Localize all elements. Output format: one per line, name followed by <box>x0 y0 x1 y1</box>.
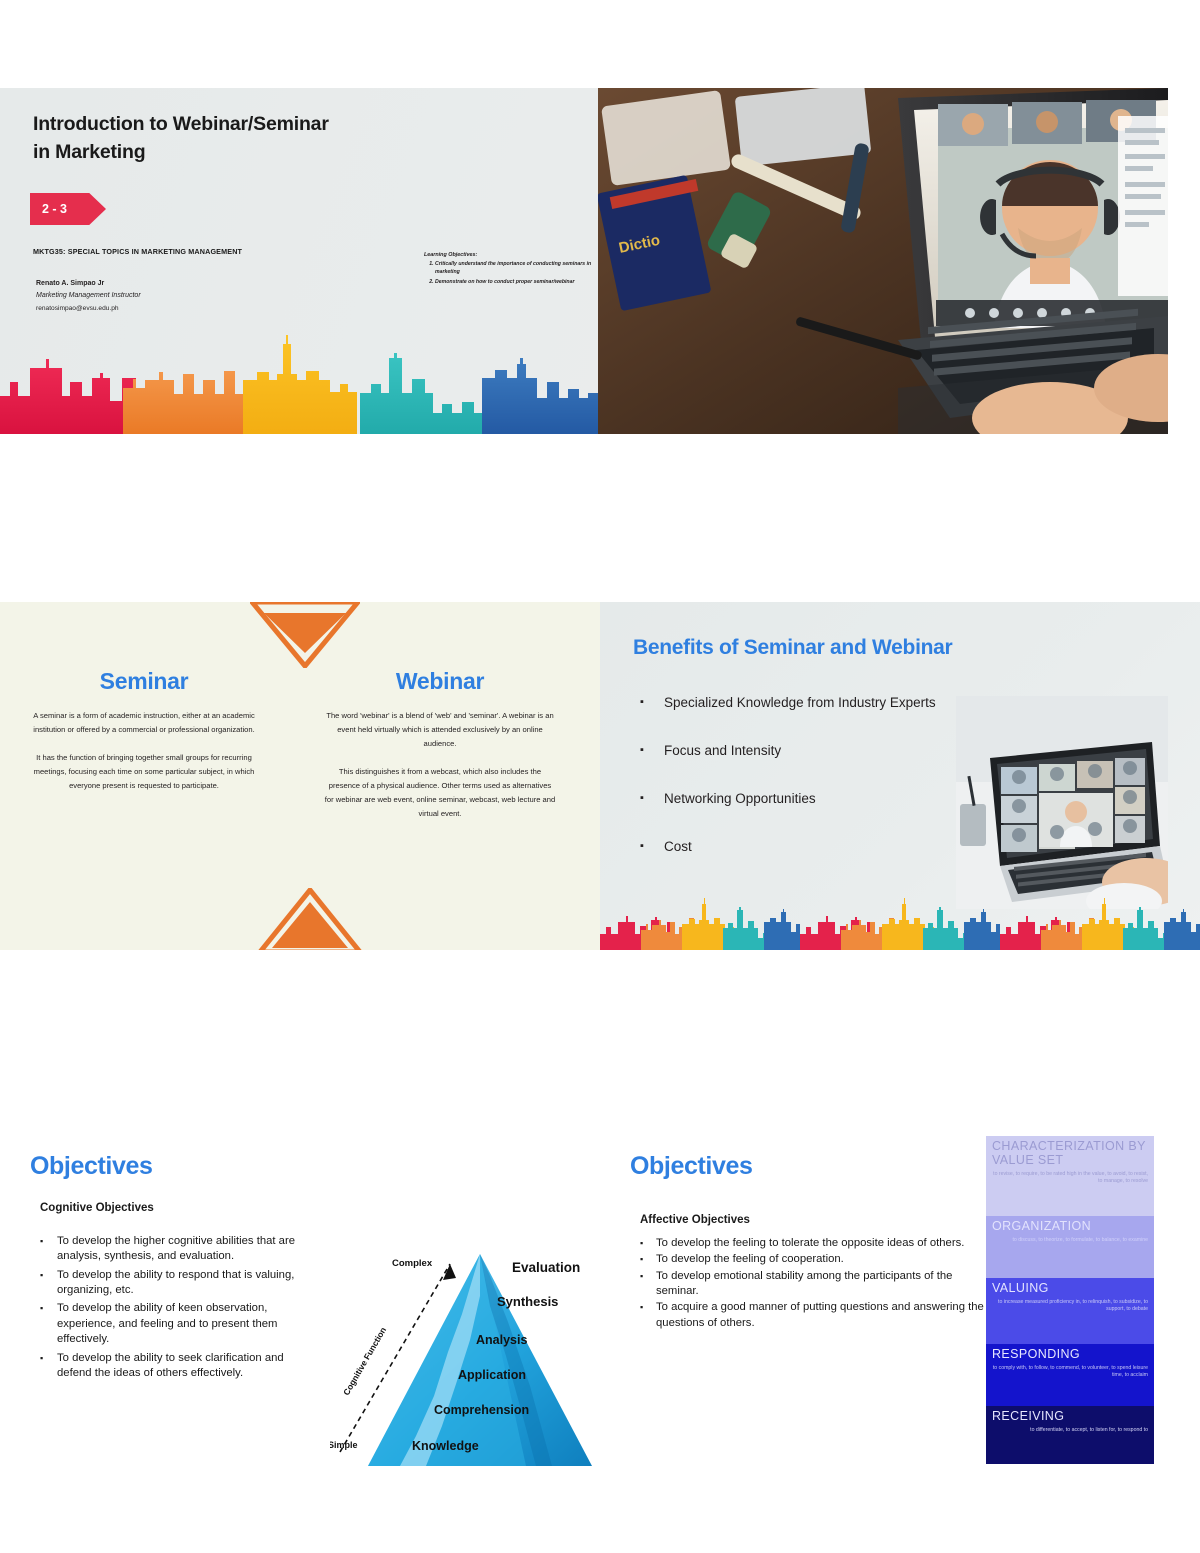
objective-item: ▪ To develop the ability of keen observa… <box>40 1301 320 1347</box>
objective-label: To develop the feeling of cooperation. <box>656 1252 844 1267</box>
benefit-label: Networking Opportunities <box>664 790 816 809</box>
pyramid-axis-top: Complex <box>392 1258 433 1269</box>
affective-objectives-subtitle: Affective Objectives <box>640 1214 750 1226</box>
affective-band-verbs: to discuss, to theorize, to formulate, t… <box>992 1237 1148 1244</box>
slide-benefits: Benefits of Seminar and Webinar ▪ Specia… <box>600 602 1200 950</box>
slide-objectives-cognitive: Objectives Cognitive Objectives ▪ To dev… <box>0 1108 600 1490</box>
objective-label: To acquire a good manner of putting ques… <box>656 1300 985 1331</box>
benefit-label: Specialized Knowledge from Industry Expe… <box>664 694 936 713</box>
webinar-heading: Webinar <box>320 668 560 695</box>
author-email: renatosimpao@evsu.edu.ph <box>36 303 296 315</box>
benefit-label: Focus and Intensity <box>664 742 781 761</box>
city-skyline-graphic <box>0 316 600 434</box>
objectives-title: Objectives <box>630 1152 752 1181</box>
seminar-paragraph: It has the function of bringing together… <box>24 751 264 793</box>
affective-band-title: RESPONDING <box>992 1348 1148 1362</box>
objective-label: To develop the ability of keen observati… <box>57 1301 320 1347</box>
bullet-icon: ▪ <box>640 838 664 857</box>
affective-band-title: CHARACTERIZATION BY VALUE SET <box>992 1140 1148 1168</box>
seminar-column: Seminar A seminar is a form of academic … <box>24 668 264 807</box>
affective-band-title: RECEIVING <box>992 1410 1148 1424</box>
pyramid-level-label: Evaluation <box>512 1260 580 1275</box>
pyramid-axis-label: Cognitive Function <box>341 1325 388 1397</box>
affective-domain-taxonomy: CHARACTERIZATION BY VALUE SET to revise,… <box>986 1136 1154 1464</box>
benefits-list: ▪ Specialized Knowledge from Industry Ex… <box>640 694 940 886</box>
slide1-left-panel: Introduction to Webinar/Seminar in Marke… <box>0 88 600 434</box>
learning-objectives-list: Critically understand the importance of … <box>424 261 592 286</box>
lesson-number-badge: 2 - 3 <box>30 193 106 225</box>
bullet-icon: ▪ <box>40 1301 57 1347</box>
slide1-title-line1: Introduction to Webinar/Seminar <box>33 110 463 138</box>
affective-objectives-list: ▪ To develop the feeling to tolerate the… <box>640 1236 985 1332</box>
affective-band: VALUING to increase measured proficiency… <box>986 1278 1154 1344</box>
affective-band-verbs: to comply with, to follow, to commend, t… <box>992 1365 1148 1379</box>
author-role: Marketing Management Instructor <box>36 290 296 302</box>
learning-objective-item: Demonstrate on how to conduct proper sem… <box>435 279 592 287</box>
affective-band: CHARACTERIZATION BY VALUE SET to revise,… <box>986 1136 1154 1216</box>
bullet-icon: ▪ <box>640 1269 656 1300</box>
learning-objectives-heading: Learning Objectives: <box>424 251 592 259</box>
seminar-heading: Seminar <box>24 668 264 695</box>
slide1-title: Introduction to Webinar/Seminar in Marke… <box>33 110 463 167</box>
webinar-column: Webinar The word 'webinar' is a blend of… <box>320 668 560 835</box>
bullet-icon: ▪ <box>640 742 664 761</box>
affective-band-title: VALUING <box>992 1282 1148 1296</box>
author-block: Renato A. Simpao Jr Marketing Management… <box>36 278 296 314</box>
pyramid-level-label: Analysis <box>476 1333 527 1347</box>
affective-band-title: ORGANIZATION <box>992 1220 1148 1234</box>
slide-seminar-webinar: Seminar A seminar is a form of academic … <box>0 602 600 950</box>
benefit-label: Cost <box>664 838 692 857</box>
affective-band-verbs: to revise, to require, to be rated high … <box>992 1171 1148 1185</box>
benefit-item: ▪ Specialized Knowledge from Industry Ex… <box>640 694 940 713</box>
learning-objective-item: Critically understand the importance of … <box>435 261 592 277</box>
webinar-paragraph: This distinguishes it from a webcast, wh… <box>320 765 560 821</box>
webinar-desk-photo: Dictio <box>598 88 1168 434</box>
objective-item: ▪ To develop emotional stability among t… <box>640 1269 985 1300</box>
mini-city-skyline-graphic <box>600 892 1200 950</box>
objective-item: ▪ To develop the feeling of cooperation. <box>640 1252 985 1267</box>
objectives-title: Objectives <box>30 1152 152 1181</box>
objective-item: ▪ To develop the higher cognitive abilit… <box>40 1234 320 1265</box>
benefits-title: Benefits of Seminar and Webinar <box>633 636 1113 660</box>
author-name: Renato A. Simpao Jr <box>36 278 296 290</box>
cognitive-objectives-subtitle: Cognitive Objectives <box>40 1202 154 1214</box>
benefit-item: ▪ Networking Opportunities <box>640 790 940 809</box>
slide-deck-page: Introduction to Webinar/Seminar in Marke… <box>0 0 1200 1553</box>
affective-band-verbs: to increase measured proficiency in, to … <box>992 1299 1148 1313</box>
affective-band: RESPONDING to comply with, to follow, to… <box>986 1344 1154 1406</box>
affective-band: RECEIVING to differentiate, to accept, t… <box>986 1406 1154 1464</box>
bullet-icon: ▪ <box>640 1252 656 1267</box>
objective-item: ▪ To develop the feeling to tolerate the… <box>640 1236 985 1251</box>
objective-item: ▪ To develop the ability to seek clarifi… <box>40 1351 320 1382</box>
cognitive-objectives-list: ▪ To develop the higher cognitive abilit… <box>40 1234 320 1384</box>
bullet-icon: ▪ <box>640 790 664 809</box>
video-call-laptop-photo <box>956 696 1168 909</box>
objective-item: ▪ To develop the ability to respond that… <box>40 1268 320 1299</box>
bullet-icon: ▪ <box>640 1236 656 1251</box>
slide1-title-line2: in Marketing <box>33 138 463 166</box>
slide-objectives-affective: Objectives Affective Objectives ▪ To dev… <box>600 1108 1200 1490</box>
benefits-photo <box>956 696 1168 909</box>
bullet-icon: ▪ <box>40 1268 57 1299</box>
triangle-up-icon <box>258 888 362 950</box>
blooms-taxonomy-pyramid: Evaluation Synthesis Analysis Applicatio… <box>330 1236 600 1476</box>
benefit-item: ▪ Cost <box>640 838 940 857</box>
bullet-icon: ▪ <box>640 694 664 713</box>
seminar-paragraph: A seminar is a form of academic instruct… <box>24 709 264 737</box>
pyramid-level-label: Comprehension <box>434 1403 529 1417</box>
objective-label: To develop emotional stability among the… <box>656 1269 985 1300</box>
affective-band: ORGANIZATION to discuss, to theorize, to… <box>986 1216 1154 1278</box>
pyramid-level-label: Knowledge <box>412 1439 479 1453</box>
objective-item: ▪ To acquire a good manner of putting qu… <box>640 1300 985 1331</box>
webinar-paragraph: The word 'webinar' is a blend of 'web' a… <box>320 709 560 751</box>
bullet-icon: ▪ <box>640 1300 656 1331</box>
objective-label: To develop the ability to seek clarifica… <box>57 1351 320 1382</box>
title-slide-photo: Dictio <box>598 88 1168 434</box>
objective-label: To develop the higher cognitive abilitie… <box>57 1234 320 1265</box>
affective-band-verbs: to differentiate, to accept, to listen f… <box>992 1427 1148 1434</box>
bullet-icon: ▪ <box>40 1351 57 1382</box>
pyramid-level-label: Application <box>458 1368 526 1382</box>
benefit-item: ▪ Focus and Intensity <box>640 742 940 761</box>
course-code-label: MKTG35: SPECIAL TOPICS IN MARKETING MANA… <box>33 247 363 256</box>
triangle-down-icon <box>250 602 360 668</box>
bullet-icon: ▪ <box>40 1234 57 1265</box>
learning-objectives-block: Learning Objectives: Critically understa… <box>424 251 592 289</box>
pyramid-axis-bottom: Simple <box>330 1440 358 1450</box>
pyramid-level-label: Synthesis <box>497 1294 558 1309</box>
objective-label: To develop the feeling to tolerate the o… <box>656 1236 964 1251</box>
slide-title-intro: Introduction to Webinar/Seminar in Marke… <box>0 88 1168 434</box>
objective-label: To develop the ability to respond that i… <box>57 1268 320 1299</box>
